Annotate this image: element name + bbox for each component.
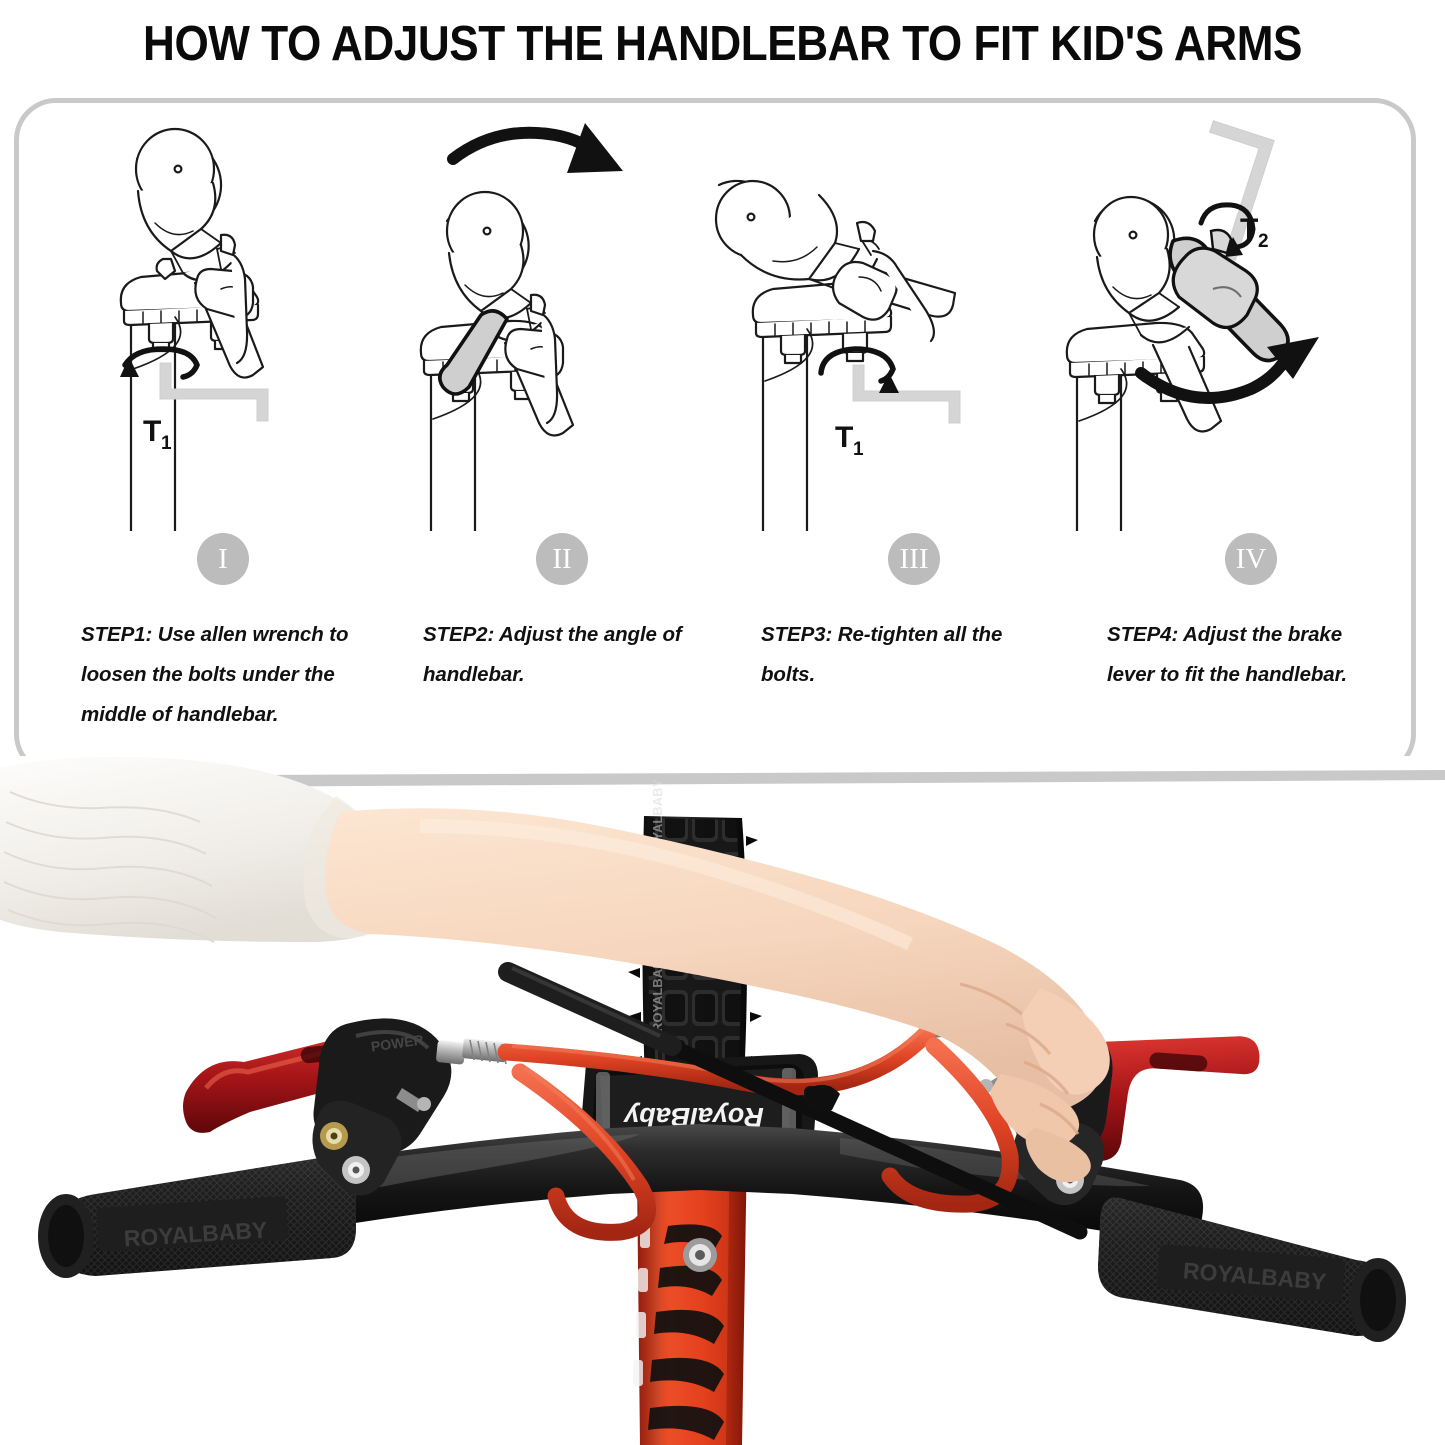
tool-label: T bbox=[1240, 213, 1258, 246]
step-caption: STEP3: Re-tighten all the bolts. bbox=[761, 615, 1036, 695]
step-badge: I bbox=[197, 533, 249, 585]
retighten-bolts-diagram: T 1 bbox=[713, 111, 1063, 531]
tool-label-subscript: 1 bbox=[161, 433, 172, 454]
step-caption: STEP1: Use allen wrench to loosen the bo… bbox=[81, 615, 359, 735]
step-list: T 1 I STEP1: Use allen wrench to loosen … bbox=[19, 103, 1411, 771]
step-item: II STEP2: Adjust the angle of handlebar. bbox=[369, 103, 719, 771]
tool-label: T bbox=[143, 415, 161, 448]
step-caption: STEP2: Adjust the angle of handlebar. bbox=[423, 615, 691, 695]
loosen-bolts-diagram: T 1 bbox=[25, 111, 375, 531]
rotate-arrow-icon bbox=[453, 123, 623, 173]
instruction-panel: T 1 I STEP1: Use allen wrench to loosen … bbox=[14, 98, 1416, 776]
product-photo: ROYALBABY ROYALBABY ROYALBABY bbox=[0, 756, 1445, 1445]
step-item: T 1 III STEP3: Re-tighten all the bolts. bbox=[713, 103, 1063, 771]
step-caption: STEP4: Adjust the brake lever to fit the… bbox=[1107, 615, 1379, 695]
step-badge: IV bbox=[1225, 533, 1277, 585]
tool-label-subscript: 2 bbox=[1258, 231, 1269, 252]
step-item: T 1 I STEP1: Use allen wrench to loosen … bbox=[25, 103, 375, 771]
tool-label: T bbox=[835, 421, 853, 454]
step-badge: II bbox=[536, 533, 588, 585]
tool-label-subscript: 1 bbox=[853, 439, 864, 460]
adjust-brake-lever-diagram: T 2 bbox=[1055, 111, 1405, 531]
page-title: HOW TO ADJUST THE HANDLEBAR TO FIT KID'S… bbox=[72, 8, 1373, 80]
allen-wrench-icon bbox=[853, 365, 960, 423]
adjust-angle-diagram bbox=[369, 111, 719, 531]
step-item: T 2 IV STEP4: Adjust the brake lever to … bbox=[1055, 103, 1405, 771]
step-badge: III bbox=[888, 533, 940, 585]
